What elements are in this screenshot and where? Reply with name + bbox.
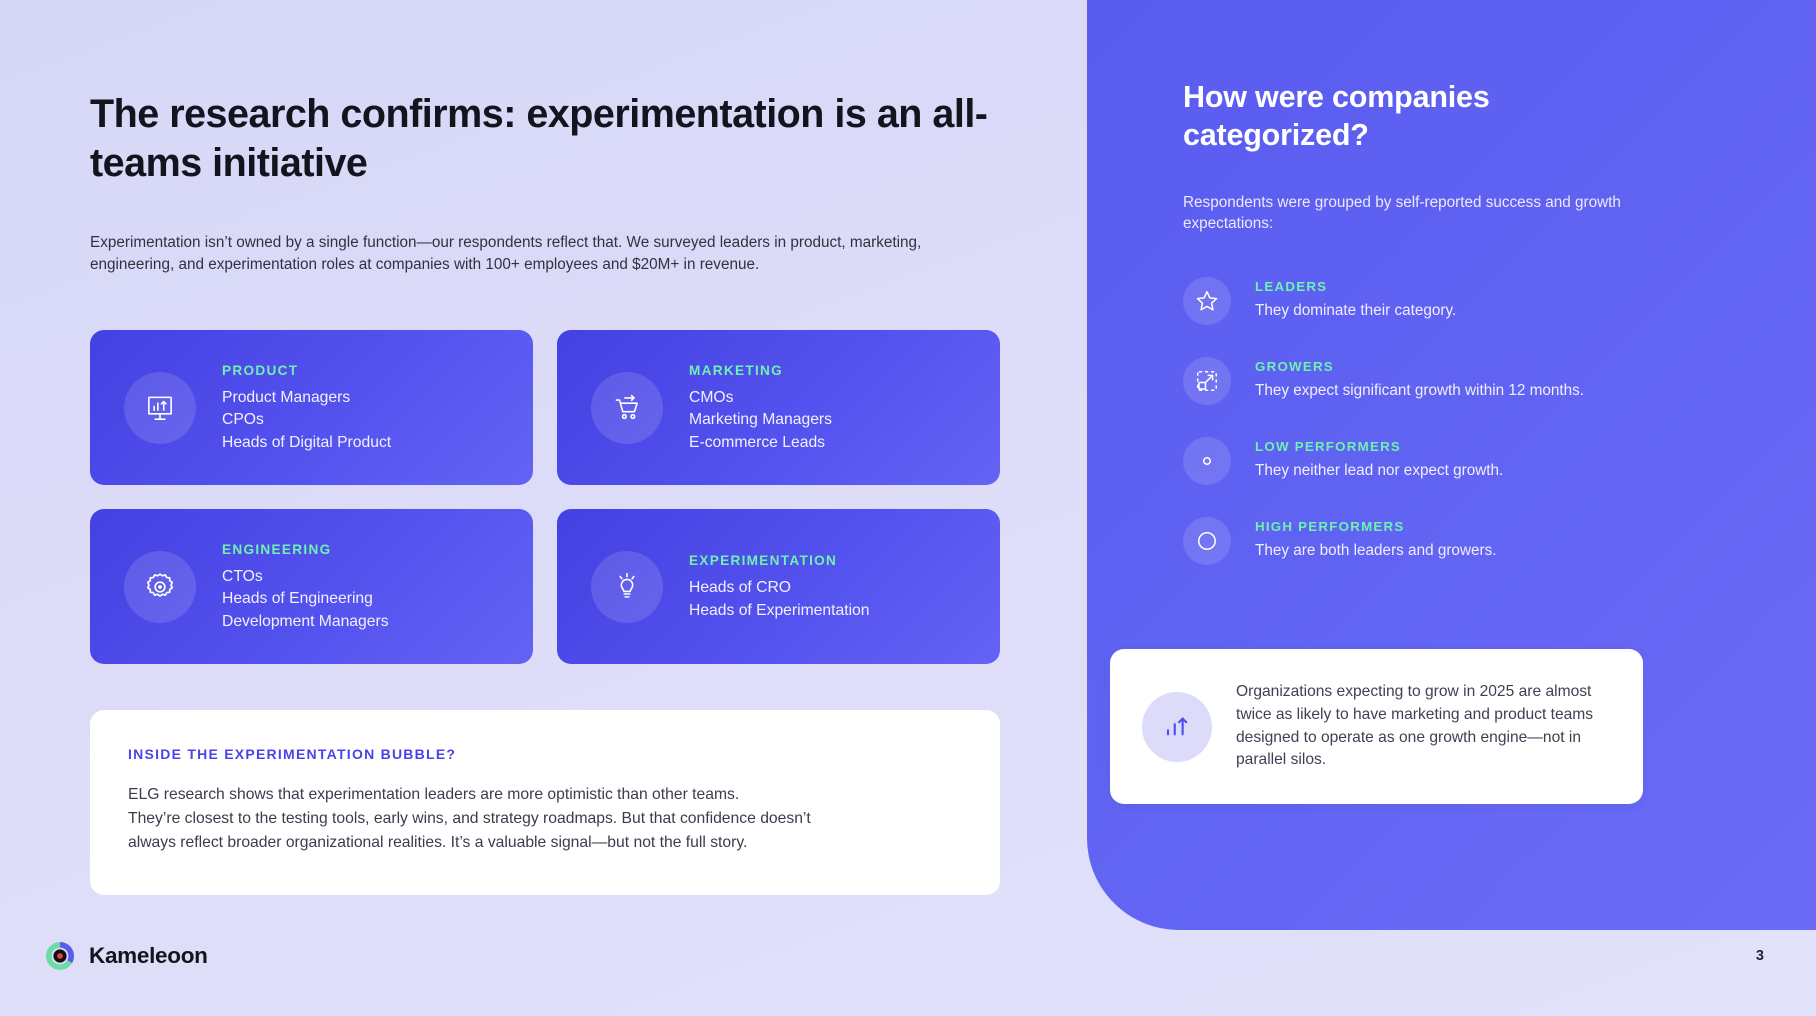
team-label: EXPERIMENTATION xyxy=(689,553,870,568)
expand-dashed-box-icon xyxy=(1183,357,1231,405)
category-description: They neither lead nor expect growth. xyxy=(1255,461,1503,481)
panel-title: How were companies categorized? xyxy=(1183,78,1583,154)
category-label: LEADERS xyxy=(1255,279,1456,294)
kameleoon-target-icon xyxy=(44,940,76,972)
team-role: Heads of Experimentation xyxy=(689,600,870,623)
category-list: LEADERS They dominate their category. xyxy=(1183,275,1756,565)
team-label: MARKETING xyxy=(689,363,832,378)
large-circle-icon xyxy=(1183,517,1231,565)
category-description: They are both leaders and growers. xyxy=(1255,541,1497,561)
panel-subtitle: Respondents were grouped by self-reporte… xyxy=(1183,193,1703,234)
bubble-line-1: ELG research shows that experimentation … xyxy=(128,783,958,807)
brand-logo[interactable]: Kameleoon xyxy=(44,940,208,972)
list-item[interactable]: LOW PERFORMERS They neither lead nor exp… xyxy=(1183,435,1756,485)
bubble-heading: INSIDE THE EXPERIMENTATION BUBBLE? xyxy=(128,746,958,762)
team-card-engineering[interactable]: ENGINEERING CTOs Heads of Engineering De… xyxy=(90,509,533,664)
team-label: ENGINEERING xyxy=(222,542,389,557)
bubble-line-3: always reflect broader organizational re… xyxy=(128,831,958,855)
chart-monitor-icon xyxy=(124,372,196,444)
team-role: CPOs xyxy=(222,409,391,432)
callout-text: Organizations expecting to grow in 2025 … xyxy=(1236,681,1615,773)
left-content: The research confirms: experimentation i… xyxy=(0,0,1087,1016)
page-subtitle: Experimentation isn’t owned by a single … xyxy=(90,232,990,276)
category-label: LOW PERFORMERS xyxy=(1255,439,1503,454)
team-role: E-commerce Leads xyxy=(689,432,832,455)
team-card-marketing[interactable]: MARKETING CMOs Marketing Managers E-comm… xyxy=(557,330,1000,485)
brand-name: Kameleoon xyxy=(89,943,208,969)
team-role: Product Managers xyxy=(222,387,391,410)
team-role: Marketing Managers xyxy=(689,409,832,432)
team-card-product[interactable]: PRODUCT Product Managers CPOs Heads of D… xyxy=(90,330,533,485)
team-role: Heads of CRO xyxy=(689,577,870,600)
lightbulb-icon xyxy=(591,551,663,623)
list-item[interactable]: LEADERS They dominate their category. xyxy=(1183,275,1756,325)
team-role: Development Managers xyxy=(222,611,389,634)
team-label: PRODUCT xyxy=(222,363,391,378)
bar-chart-up-arrow-icon xyxy=(1142,692,1212,762)
growth-insight-callout: Organizations expecting to grow in 2025 … xyxy=(1110,649,1643,804)
team-role: CTOs xyxy=(222,566,389,589)
category-label: GROWERS xyxy=(1255,359,1584,374)
page-title: The research confirms: experimentation i… xyxy=(90,90,1020,189)
slide-canvas: How were companies categorized? Responde… xyxy=(0,0,1816,1016)
category-description: They dominate their category. xyxy=(1255,301,1456,321)
small-circle-icon xyxy=(1183,437,1231,485)
page-number: 3 xyxy=(1756,948,1764,964)
experimentation-bubble-card: INSIDE THE EXPERIMENTATION BUBBLE? ELG r… xyxy=(90,710,1000,895)
list-item[interactable]: HIGH PERFORMERS They are both leaders an… xyxy=(1183,515,1756,565)
gear-icon xyxy=(124,551,196,623)
bubble-line-2: They’re closest to the testing tools, ea… xyxy=(128,807,958,831)
star-outline-icon xyxy=(1183,277,1231,325)
list-item[interactable]: GROWERS They expect significant growth w… xyxy=(1183,355,1756,405)
team-role: Heads of Engineering xyxy=(222,588,389,611)
team-role: Heads of Digital Product xyxy=(222,432,391,455)
shopping-cart-arrow-icon xyxy=(591,372,663,444)
team-card-grid: PRODUCT Product Managers CPOs Heads of D… xyxy=(90,330,1000,664)
category-description: They expect significant growth within 12… xyxy=(1255,381,1584,401)
category-label: HIGH PERFORMERS xyxy=(1255,519,1497,534)
team-card-experimentation[interactable]: EXPERIMENTATION Heads of CRO Heads of Ex… xyxy=(557,509,1000,664)
team-role: CMOs xyxy=(689,387,832,410)
